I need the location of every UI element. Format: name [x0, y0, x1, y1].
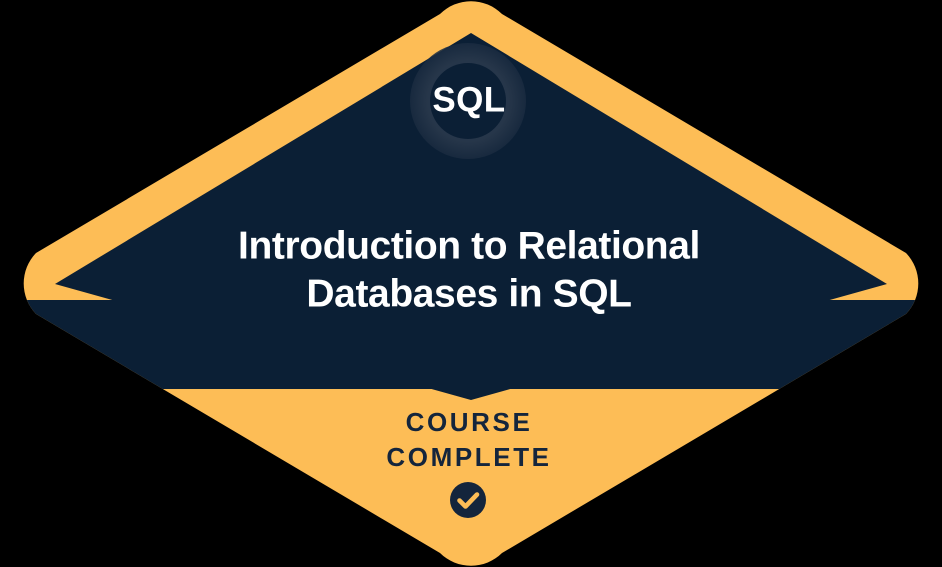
course-title-line-2: Databases in SQL: [306, 272, 631, 315]
check-circle-disc: [450, 482, 486, 518]
status-line-2: COMPLETE: [386, 442, 551, 472]
course-title-line-1: Introduction to Relational: [238, 224, 700, 267]
course-completion-badge: SQL Introduction to Relational Databases…: [0, 0, 942, 567]
badge-canvas: SQL Introduction to Relational Databases…: [0, 0, 942, 567]
status-line-1: COURSE: [406, 407, 533, 437]
check-circle-icon: [450, 482, 486, 518]
technology-label: SQL: [432, 80, 505, 119]
